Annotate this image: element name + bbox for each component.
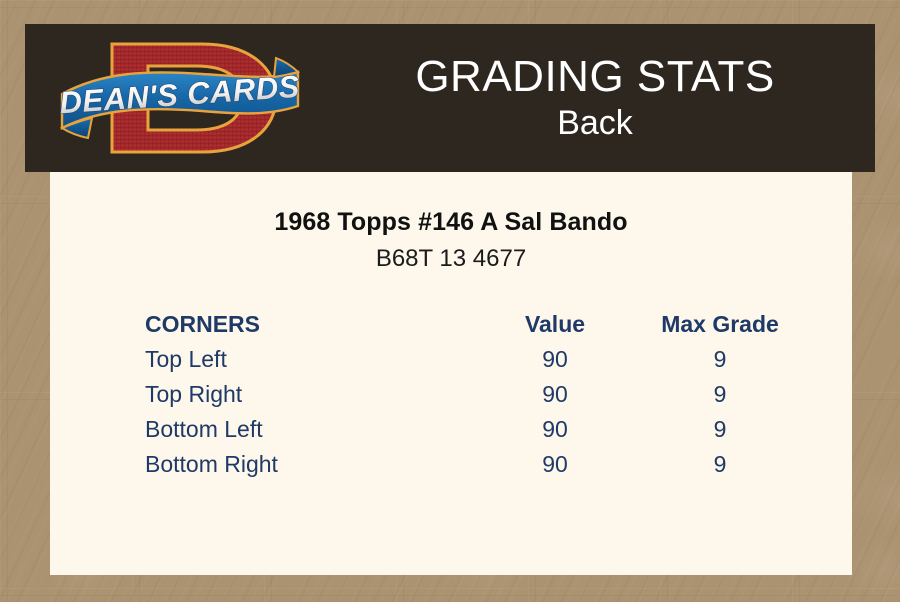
table-header-row: CORNERS Value Max Grade xyxy=(145,307,805,342)
card-identifier: B68T 13 4677 xyxy=(50,245,852,273)
row-value: 90 xyxy=(475,412,635,447)
deans-cards-logo[interactable]: DEAN'S CARDS xyxy=(52,28,307,168)
row-value: 90 xyxy=(475,342,635,377)
grading-stats-table: CORNERS Value Max Grade Top Left 90 9 To… xyxy=(145,307,805,482)
row-label: Bottom Left xyxy=(145,412,475,447)
row-max-grade: 9 xyxy=(635,447,805,482)
row-max-grade: 9 xyxy=(635,342,805,377)
content-panel: 1968 Topps #146 A Sal Bando B68T 13 4677… xyxy=(50,172,852,575)
row-label: Bottom Right xyxy=(145,447,475,482)
column-header-max-grade: Max Grade xyxy=(635,307,805,342)
column-header-value: Value xyxy=(475,307,635,342)
row-label: Top Right xyxy=(145,377,475,412)
header-title-group: GRADING STATS Back xyxy=(315,24,875,172)
row-value: 90 xyxy=(475,377,635,412)
page-title: GRADING STATS xyxy=(415,53,774,101)
page-subtitle: Back xyxy=(557,104,633,143)
row-max-grade: 9 xyxy=(635,377,805,412)
row-label: Top Left xyxy=(145,342,475,377)
column-header-corners: CORNERS xyxy=(145,307,475,342)
table-row: Bottom Right 90 9 xyxy=(145,447,805,482)
card-title: 1968 Topps #146 A Sal Bando xyxy=(50,208,852,237)
table-row: Bottom Left 90 9 xyxy=(145,412,805,447)
table-row: Top Left 90 9 xyxy=(145,342,805,377)
row-value: 90 xyxy=(475,447,635,482)
table-row: Top Right 90 9 xyxy=(145,377,805,412)
header-bar: DEAN'S CARDS GRADING STATS Back xyxy=(25,24,875,172)
row-max-grade: 9 xyxy=(635,412,805,447)
